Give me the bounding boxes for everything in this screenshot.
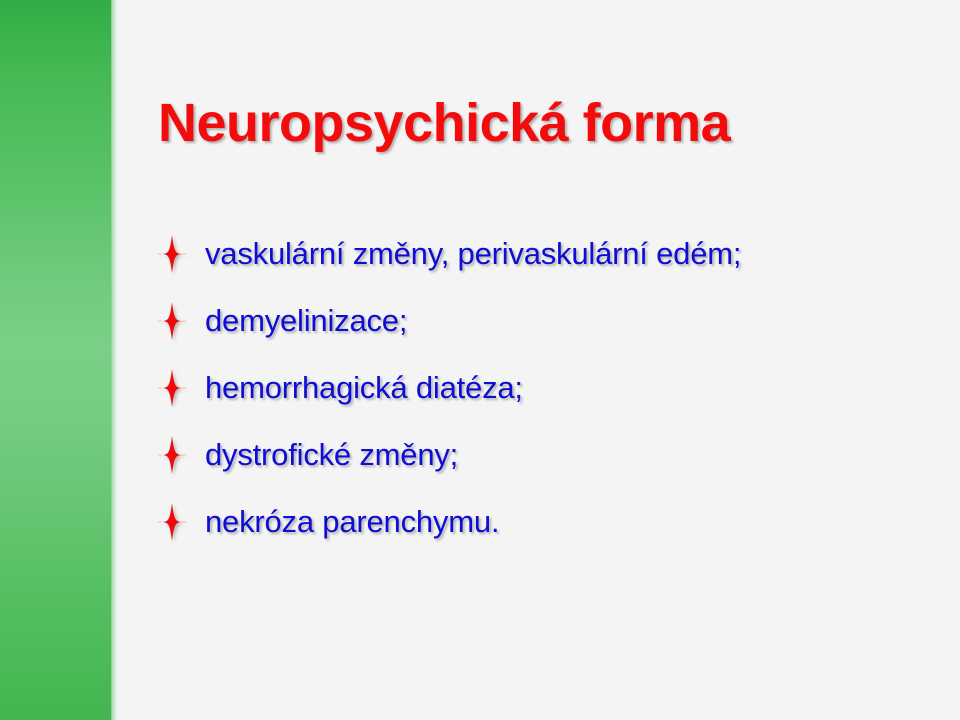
list-item-label: vaskulární změny, perivaskulární edém; xyxy=(205,232,945,276)
slide-canvas: Neuropsychická forma vaskulární změny, p… xyxy=(0,0,960,720)
page-title: Neuropsychická forma xyxy=(158,92,918,154)
list-item-label: demyelinizace; xyxy=(205,299,945,343)
list-item: demyelinizace; xyxy=(155,299,945,366)
four-pointed-star-bullet-icon xyxy=(155,500,189,544)
list-item: hemorrhagická diatéza; xyxy=(155,366,945,433)
list-item: nekróza parenchymu. xyxy=(155,500,945,567)
four-pointed-star-bullet-icon xyxy=(155,232,189,276)
list-item-label: nekróza parenchymu. xyxy=(205,500,945,544)
left-green-gradient-band xyxy=(0,0,112,720)
list-item: vaskulární změny, perivaskulární edém; xyxy=(155,232,945,299)
four-pointed-star-bullet-icon xyxy=(155,366,189,410)
list-item: dystrofické změny; xyxy=(155,433,945,500)
left-band-edge-fade xyxy=(111,0,117,720)
four-pointed-star-bullet-icon xyxy=(155,433,189,477)
list-item-label: hemorrhagická diatéza; xyxy=(205,366,945,410)
four-pointed-star-bullet-icon xyxy=(155,299,189,343)
list-item-label: dystrofické změny; xyxy=(205,433,945,477)
bullet-list: vaskulární změny, perivaskulární edém; d… xyxy=(155,232,945,567)
